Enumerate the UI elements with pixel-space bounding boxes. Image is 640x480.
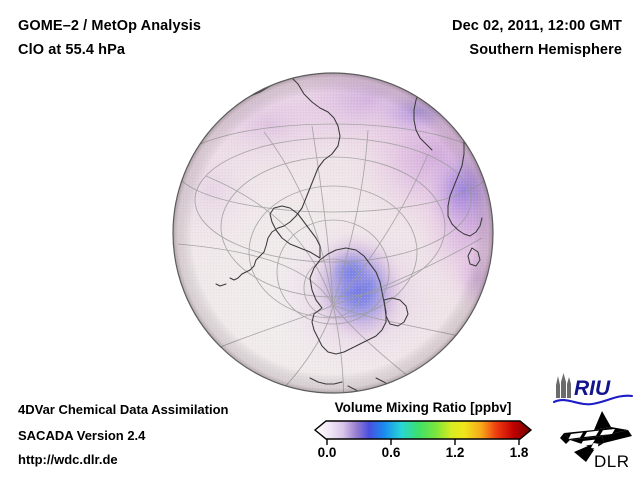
globe-map — [172, 72, 494, 394]
colorbar: Volume Mixing Ratio [ppbv] — [312, 400, 534, 474]
page-title-instrument: GOME–2 / MetOp Analysis — [18, 18, 201, 34]
south-pole-marker — [331, 303, 335, 307]
colorbar-tick-0: 0.0 — [318, 445, 337, 460]
riu-skyline-mark — [556, 373, 571, 398]
page-title-species: ClO at 55.4 hPa — [18, 42, 125, 58]
colorbar-tick-2: 1.2 — [446, 445, 465, 460]
header-region: Southern Hemisphere — [469, 42, 622, 58]
dlr-logo: DLR — [558, 410, 634, 470]
colorbar-tick-1: 0.6 — [382, 445, 401, 460]
footer-line-method: 4DVar Chemical Data Assimilation — [18, 402, 229, 417]
footer-line-url[interactable]: http://wdc.dlr.de — [18, 452, 118, 467]
header-datetime: Dec 02, 2011, 12:00 GMT — [452, 18, 622, 34]
riu-logo: RIU — [552, 372, 634, 408]
riu-wordmark: RIU — [574, 377, 611, 400]
colorbar-tick-labels: 0.0 0.6 1.2 1.8 — [312, 445, 534, 465]
colorbar-scale — [312, 419, 534, 446]
globe-limb-shading — [173, 73, 493, 393]
globe-data-layer — [172, 72, 494, 394]
footer-line-version: SACADA Version 2.4 — [18, 428, 145, 443]
colorbar-title: Volume Mixing Ratio [ppbv] — [312, 400, 534, 415]
dlr-wordmark: DLR — [594, 452, 630, 470]
colorbar-gradient-bar — [315, 421, 531, 439]
colorbar-tick-3: 1.8 — [510, 445, 529, 460]
